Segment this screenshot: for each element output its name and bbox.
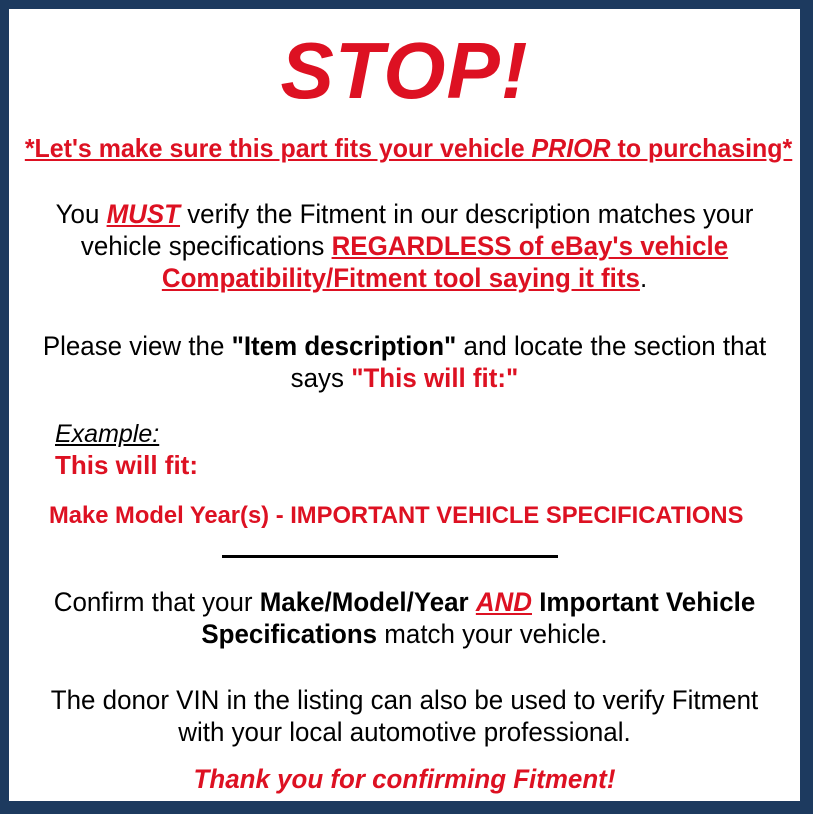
item-description-paragraph: Please view the "Item description" and l…	[38, 331, 770, 395]
confirm-part-1: Confirm that your	[54, 587, 260, 617]
must-part-3: .	[640, 263, 647, 293]
fitment-notice-body: STOP! *Let's make sure this part fits yo…	[9, 9, 800, 801]
confirm-emphasis-make-model-year: Make/Model/Year	[260, 587, 469, 617]
item-desc-emphasis-item-description: "Item description"	[232, 331, 457, 361]
subtitle-suffix: to purchasing*	[611, 133, 793, 163]
must-emphasis-must: MUST	[107, 199, 180, 229]
must-verify-paragraph: You MUST verify the Fitment in our descr…	[38, 199, 770, 295]
subtitle-prefix: *Let's make sure this part fits your veh…	[25, 133, 532, 163]
subtitle-emphasis-prior: PRIOR	[532, 133, 611, 163]
confirm-part-3	[532, 587, 539, 617]
confirm-emphasis-and: AND	[476, 587, 532, 617]
subtitle-warning: *Let's make sure this part fits your veh…	[25, 133, 784, 163]
donor-vin-paragraph: The donor VIN in the listing can also be…	[38, 685, 770, 749]
page-title: STOP!	[9, 25, 800, 118]
fitment-notice-card: STOP! *Let's make sure this part fits yo…	[0, 0, 813, 814]
example-block: Example: This will fit:	[55, 421, 198, 481]
confirm-part-4: match your vehicle.	[377, 619, 608, 649]
must-part-1: You	[56, 199, 107, 229]
confirm-paragraph: Confirm that your Make/Model/Year AND Im…	[38, 587, 770, 651]
item-desc-emphasis-this-will-fit: "This will fit:"	[351, 363, 518, 393]
horizontal-rule-divider	[222, 555, 558, 558]
example-label: Example:	[55, 421, 198, 449]
confirm-part-2	[469, 587, 476, 617]
example-spec-line: Make Model Year(s) - IMPORTANT VEHICLE S…	[49, 502, 743, 530]
closing-thank-you: Thank you for confirming Fitment!	[25, 764, 784, 795]
example-fit-header: This will fit:	[55, 450, 198, 481]
item-desc-part-1: Please view the	[43, 331, 232, 361]
